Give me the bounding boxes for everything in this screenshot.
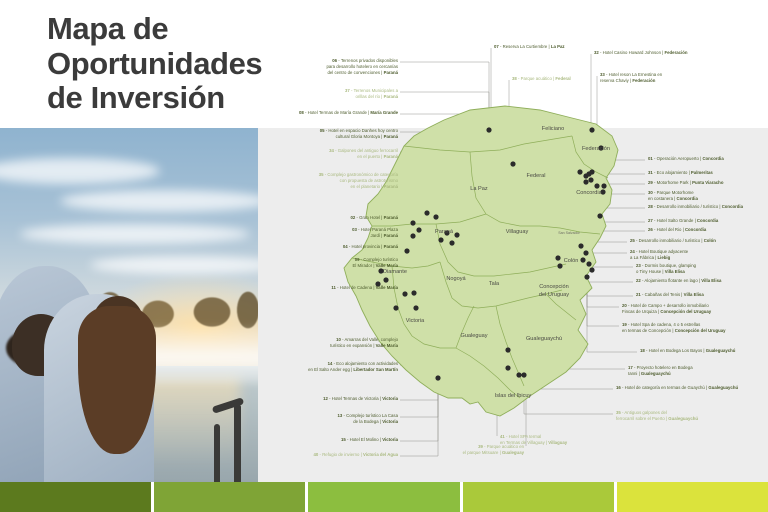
callout-location: Concordia (722, 204, 743, 209)
callout-number: 04 (343, 244, 348, 249)
callout-number: 29 (648, 180, 653, 185)
color-block-3 (308, 482, 459, 512)
callout-35[interactable]: 35 - Antiguos galpones del ferrocarril s… (616, 410, 766, 422)
callout-location: Concordia (702, 156, 723, 161)
callout-location: Villa Elisa (701, 278, 721, 283)
callout-29[interactable]: 29 - Motorhome Park | Punta Viaracho (648, 180, 766, 186)
callout-26[interactable]: 26 - Hotel del Rio | Concordia (648, 227, 766, 233)
dept-label-victoria: Victoria (392, 318, 438, 324)
callout-location: Paraná (384, 184, 398, 189)
callout-24[interactable]: 24 - Hotel Boutique adyacente a La Fábri… (630, 249, 766, 261)
callout-location: Gualeguaychú (706, 348, 736, 353)
callout-location: Villa Elisa (684, 292, 704, 297)
callout-location: Victoria (382, 419, 398, 424)
callout-number: 03 (352, 227, 357, 232)
callout-04[interactable]: 04 - Hotel provincia | Paraná (270, 244, 398, 250)
callout-location: Paraná (384, 134, 398, 139)
callout-number: 25 (630, 238, 635, 243)
callout-location: Palmeritas (691, 170, 713, 175)
callout-number: 08 (299, 110, 304, 115)
dept-label-feliciano: Feliciano (530, 126, 576, 132)
photo-cloud (20, 224, 250, 244)
photo-handrail (208, 390, 250, 482)
callout-location: Paraná (384, 154, 398, 159)
callout-location: Libertador San Martín (353, 367, 398, 372)
dept-label-concepci-n: Concepción (531, 284, 577, 290)
callout-number: 18 (640, 348, 645, 353)
callout-14[interactable]: 14 - Eco alojamiento con actividades en … (258, 361, 398, 373)
callout-06[interactable]: 06 - Terrenos privados disponibles para … (280, 58, 398, 76)
callout-number: 31 (648, 170, 653, 175)
callout-number: 26 (648, 227, 653, 232)
callout-location: Gualeguaychú (641, 371, 671, 376)
dept-label-tala: Tala (471, 281, 517, 287)
callout-location: Victoria (382, 396, 398, 401)
callout-07[interactable]: 07 - Reserva La Curtiembre | La Paz (494, 44, 594, 50)
callout-location: Valle María (376, 263, 398, 268)
callout-number: 15 (341, 437, 346, 442)
callout-number: 35 (616, 410, 621, 415)
callout-number: 14 (328, 361, 333, 366)
callout-number: 12 (323, 396, 328, 401)
callout-number: 20 (622, 303, 627, 308)
callout-21[interactable]: 21 - Cabañas del Tenis | Villa Elisa (636, 292, 766, 298)
dept-label-federal: Federal (513, 173, 559, 179)
callout-location: Punta Viaracho (692, 180, 723, 185)
callout-location: Paraná (384, 215, 398, 220)
dept-label-del-uruguay: del Uruguay (531, 292, 577, 298)
callout-location: Federación (665, 50, 688, 55)
callout-number: 41 (500, 434, 505, 439)
callout-20[interactable]: 20 - Hotel de Campo + desarrollo inmobil… (622, 303, 766, 315)
dept-label-diamante: Diamante (372, 269, 418, 275)
callout-number: 17 (628, 365, 633, 370)
callout-location: Concordia (697, 218, 718, 223)
color-block-1 (0, 482, 151, 512)
callout-27[interactable]: 27 - Hotel Salto Grande | Concordia (648, 218, 766, 224)
callout-location: Concepción del Uruguay (675, 328, 726, 333)
callout-39[interactable]: 39 - Parque acuático en el parque Mitsua… (432, 444, 524, 456)
callout-35[interactable]: 35 - Complejo gastronómico de categoría … (258, 172, 398, 190)
callout-number: 30 (648, 190, 653, 195)
callout-09[interactable]: 09 - Complejo turístico El Mirador | Val… (270, 257, 398, 269)
callout-location: Victoria (382, 437, 398, 442)
callout-location: Concepción del Uruguay (660, 309, 711, 314)
callout-location: Gualeguay (502, 450, 524, 455)
dept-label-concordia: Concordia (566, 190, 612, 196)
dept-label-la-paz: La Paz (456, 186, 502, 192)
callout-location: Paraná (384, 70, 398, 75)
dept-label-villaguay: Villaguay (494, 229, 540, 235)
callout-location: Valle María (376, 285, 398, 290)
callout-location: Victoria del Agua (363, 452, 398, 457)
callout-number: 07 (494, 44, 499, 49)
callout-number: 24 (630, 249, 635, 254)
callout-13[interactable]: 13 - Complejo turístico La Casa de la Bo… (268, 413, 398, 425)
callout-10[interactable]: 10 - Amarras del Valle, complejo turísti… (258, 337, 398, 349)
callout-number: 06 (332, 58, 337, 63)
callout-number: 37 (345, 88, 350, 93)
callout-number: 01 (648, 156, 653, 161)
photo-cloud (60, 190, 258, 212)
callout-location: María Grande (370, 110, 398, 115)
callout-number: 13 (337, 413, 342, 418)
dept-label-san-salvador: San Salvador (546, 231, 592, 235)
callout-02[interactable]: 02 - Gran Hotel | Paraná (270, 215, 398, 221)
callout-location: Colón (704, 238, 716, 243)
callout-number: 27 (648, 218, 653, 223)
callout-location: La Paz (551, 44, 565, 49)
callout-number: 33 (600, 72, 605, 77)
callout-number: 39 (478, 444, 483, 449)
callout-38[interactable]: 38 - Parque acuático | Federal (512, 76, 602, 82)
callout-number: 34 (329, 148, 334, 153)
callout-01[interactable]: 01 - Operación Aeropuerto | Concordia (648, 156, 766, 162)
callout-location: Federación (632, 78, 655, 83)
callout-location: Concordia (685, 227, 706, 232)
dept-label-col-n: Colón (548, 258, 594, 264)
dept-label-islas-del-ibicuy: Islas del Ibicuy (490, 393, 536, 399)
callout-location: Paraná (384, 244, 398, 249)
callout-28[interactable]: 28 - Desarrollo inmobiliario / turístico… (648, 204, 766, 210)
callout-location: Valle María (376, 343, 398, 348)
callout-location: Paraná (384, 233, 398, 238)
callout-40[interactable]: 40 - Refugio de invierno | Victoria del … (268, 452, 398, 458)
callout-23[interactable]: 23 - Dormis boutique, glamping o Tiny Ho… (636, 263, 766, 275)
dept-label-federaci-n: Federación (573, 146, 619, 152)
callout-number: 19 (622, 322, 627, 327)
callout-location: Villa Elisa (665, 269, 685, 274)
callout-number: 22 (636, 278, 641, 283)
callout-number: 02 (351, 215, 356, 220)
dept-label-paran-: Paraná (421, 229, 467, 235)
callout-number: 09 (355, 257, 360, 262)
callout-18[interactable]: 18 - Hotel en Bodega Los Bayos | Gualegu… (640, 348, 766, 354)
callout-location: Federal (555, 76, 570, 81)
callout-number: 16 (616, 385, 621, 390)
callout-25[interactable]: 25 - Desarrollo inmobiliario / turístico… (630, 238, 766, 244)
callout-number: 40 (314, 452, 319, 457)
callout-16[interactable]: 16 - Hotel de categoría en termas de Gua… (616, 385, 766, 391)
callout-number: 23 (636, 263, 641, 268)
callout-location: Liebig (658, 255, 671, 260)
bottom-color-bar (0, 482, 768, 512)
infographic-map-page: Mapa de Oportunidades de Inversión Felic (0, 0, 768, 512)
callout-11[interactable]: 11 - Hotel de Cadena | Valle María (270, 285, 398, 291)
callout-number: 28 (648, 204, 653, 209)
callout-location: Gualeguaychú (708, 385, 738, 390)
callout-12[interactable]: 12 - Hotel Termas de Victoria | Victoria (268, 396, 398, 402)
callout-number: 05 (320, 128, 325, 133)
callout-location: Villaguay (548, 440, 567, 445)
callout-05[interactable]: 05 - Hotel en espacio Danhes hoy centro … (258, 128, 398, 140)
callout-37[interactable]: 37 - Terrenos Municipales a orillas del … (280, 88, 398, 100)
dept-label-gualeguay: Gualeguay (451, 333, 497, 339)
callout-31[interactable]: 31 - Eco alojamiento | Palmeritas (648, 170, 766, 176)
hero-photo-couple-at-lake (0, 128, 258, 482)
callout-location: Concordia (677, 196, 698, 201)
callout-03[interactable]: 03 - Hotel Paraná Plaza Jardí | Paraná (270, 227, 398, 239)
callout-19[interactable]: 19 - Hotel Spa de cadena, 4 o 5 estrella… (622, 322, 766, 334)
callout-number: 35 (319, 172, 324, 177)
callout-number: 38 (512, 76, 517, 81)
dept-label-gualeguaych-: Gualeguaychú (521, 336, 567, 342)
title-line-1: Mapa de (47, 12, 347, 47)
callout-34[interactable]: 34 - Galpones del antiguo ferrocarril en… (268, 148, 398, 160)
callout-15[interactable]: 15 - Hotel El Molino | Victoria (268, 437, 398, 443)
color-block-5 (617, 482, 768, 512)
callout-number: 10 (336, 337, 341, 342)
callout-number: 21 (636, 292, 641, 297)
callout-22[interactable]: 22 - Alojamiento flotante en lago | Vill… (636, 278, 766, 284)
callout-location: Gualeguaychú (668, 416, 698, 421)
color-block-4 (463, 482, 614, 512)
callout-33[interactable]: 33 - Hotel reson La Ernestina en reserva… (600, 72, 712, 84)
callout-30[interactable]: 30 - Parque Motorhome en costanera | Con… (648, 190, 766, 202)
callout-32[interactable]: 32 - Hotel Casino Howard Johnson | Feder… (594, 50, 706, 56)
callout-location: Paraná (384, 94, 398, 99)
callout-number: 32 (594, 50, 599, 55)
color-block-2 (154, 482, 305, 512)
callout-08[interactable]: 08 - Hotel Termas de María Grande | Marí… (268, 110, 398, 116)
callout-17[interactable]: 17 - Proyecto hotelero en Bodega Ianni |… (628, 365, 766, 377)
callout-number: 11 (331, 285, 336, 290)
